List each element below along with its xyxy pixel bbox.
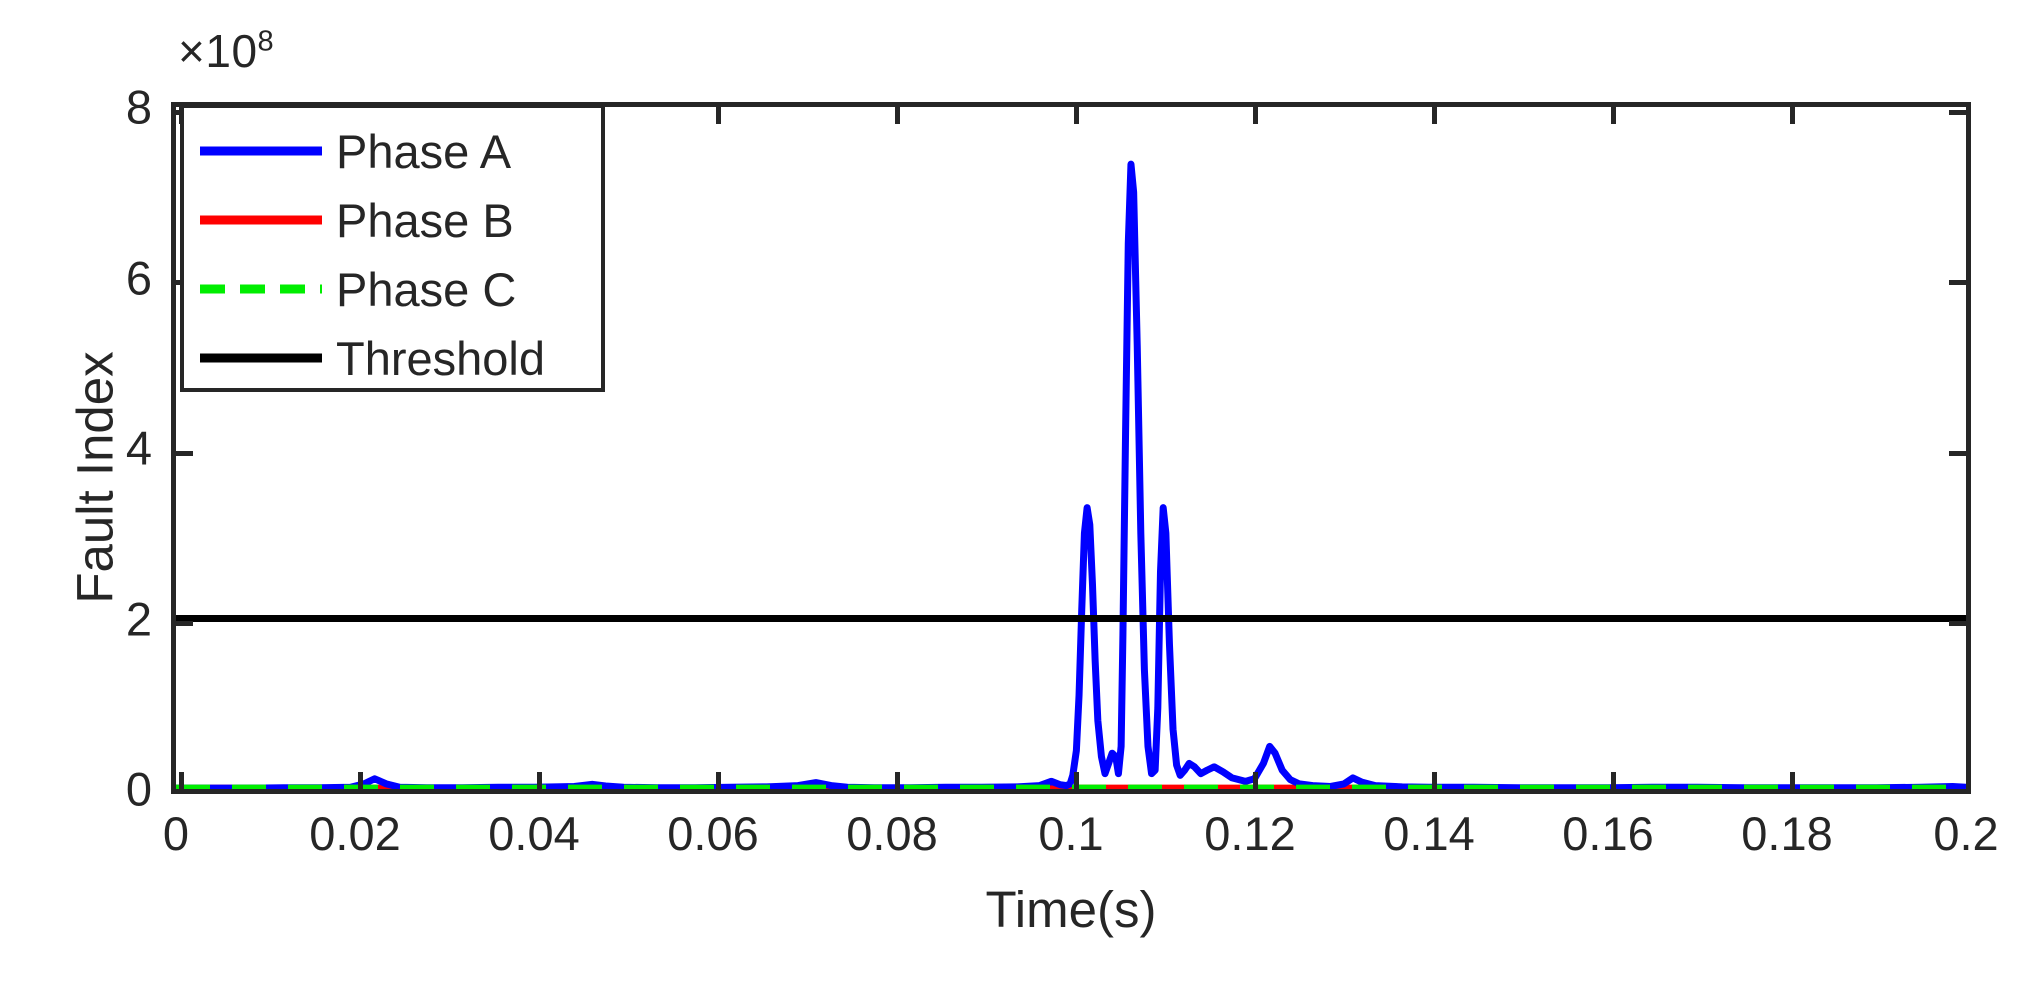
x-tick-bottom-10	[1969, 772, 1972, 789]
x-tick-label-3: 0.06	[667, 806, 758, 861]
x-tick-bottom-9	[1790, 772, 1795, 789]
y-tick-label-4: 8	[126, 80, 152, 135]
x-tick-label-1: 0.02	[309, 806, 400, 861]
x-tick-label-8: 0.16	[1562, 806, 1653, 861]
x-tick-label-10: 0.2	[1933, 806, 1998, 861]
x-tick-top-10	[1969, 107, 1972, 124]
y-tick-label-2: 4	[126, 421, 152, 476]
y-tick-label-0: 0	[126, 762, 152, 817]
x-tick-bottom-4	[895, 772, 900, 789]
legend-swatch-phase-c-icon	[200, 274, 322, 304]
legend-swatch-phase-a-icon	[200, 136, 322, 166]
legend-line-sample	[200, 216, 322, 225]
legend-line-sample	[200, 354, 322, 363]
y-tick-left-2	[176, 451, 193, 456]
legend-label: Phase B	[336, 197, 514, 244]
legend-swatch-phase-b-icon	[200, 205, 322, 235]
y-tick-left-1	[176, 621, 193, 626]
legend-line-sample	[200, 285, 322, 294]
x-tick-top-4	[895, 107, 900, 124]
y-tick-label-1: 2	[126, 591, 152, 646]
y-tick-left-0	[176, 792, 193, 795]
y-tick-right-2	[1949, 451, 1966, 456]
legend-swatch-threshold-icon	[200, 343, 322, 373]
legend-entry-phase-b[interactable]: Phase B	[184, 185, 601, 255]
legend-entry-threshold[interactable]: Threshold	[184, 323, 601, 393]
x-tick-bottom-3	[716, 772, 721, 789]
x-tick-label-7: 0.14	[1383, 806, 1474, 861]
x-tick-label-6: 0.12	[1204, 806, 1295, 861]
x-tick-top-5	[1074, 107, 1079, 124]
x-tick-bottom-7	[1432, 772, 1437, 789]
x-tick-label-5: 0.1	[1038, 806, 1103, 861]
x-tick-bottom-8	[1611, 772, 1616, 789]
legend-label: Phase C	[336, 266, 516, 313]
legend-label: Phase A	[336, 128, 511, 175]
legend-entry-phase-a[interactable]: Phase A	[184, 116, 601, 186]
legend-line-sample	[200, 147, 322, 156]
x-tick-bottom-2	[537, 772, 542, 789]
x-tick-label-0: 0	[163, 806, 189, 861]
legend-label: Threshold	[336, 335, 545, 382]
x-tick-label-4: 0.08	[846, 806, 937, 861]
y-tick-right-0	[1949, 792, 1966, 795]
x-tick-top-6	[1253, 107, 1258, 124]
legend-entry-phase-c[interactable]: Phase C	[184, 254, 601, 324]
y-axis-exponent-label: ×108	[178, 24, 274, 78]
x-tick-bottom-0	[179, 772, 184, 789]
x-tick-bottom-5	[1074, 772, 1079, 789]
y-tick-right-1	[1949, 621, 1966, 626]
y-axis-exponent-power: 8	[258, 26, 275, 58]
y-axis-exponent-base: ×10	[178, 25, 258, 77]
y-tick-right-3	[1949, 280, 1966, 285]
x-tick-top-3	[716, 107, 721, 124]
x-tick-label-9: 0.18	[1741, 806, 1832, 861]
chart-legend[interactable]: Phase APhase BPhase CThreshold	[180, 104, 605, 392]
x-tick-bottom-6	[1253, 772, 1258, 789]
x-axis-title: Time(s)	[171, 880, 1971, 939]
y-tick-right-4	[1949, 110, 1966, 115]
x-tick-top-8	[1611, 107, 1616, 124]
x-tick-top-7	[1432, 107, 1437, 124]
x-tick-label-2: 0.04	[488, 806, 579, 861]
y-axis-title: Fault Index	[66, 198, 125, 758]
x-tick-bottom-1	[358, 772, 363, 789]
figure-container: ×108 Time(s) Fault Index 00.020.040.060.…	[0, 0, 2032, 992]
x-tick-top-9	[1790, 107, 1795, 124]
y-tick-label-3: 6	[126, 250, 152, 305]
